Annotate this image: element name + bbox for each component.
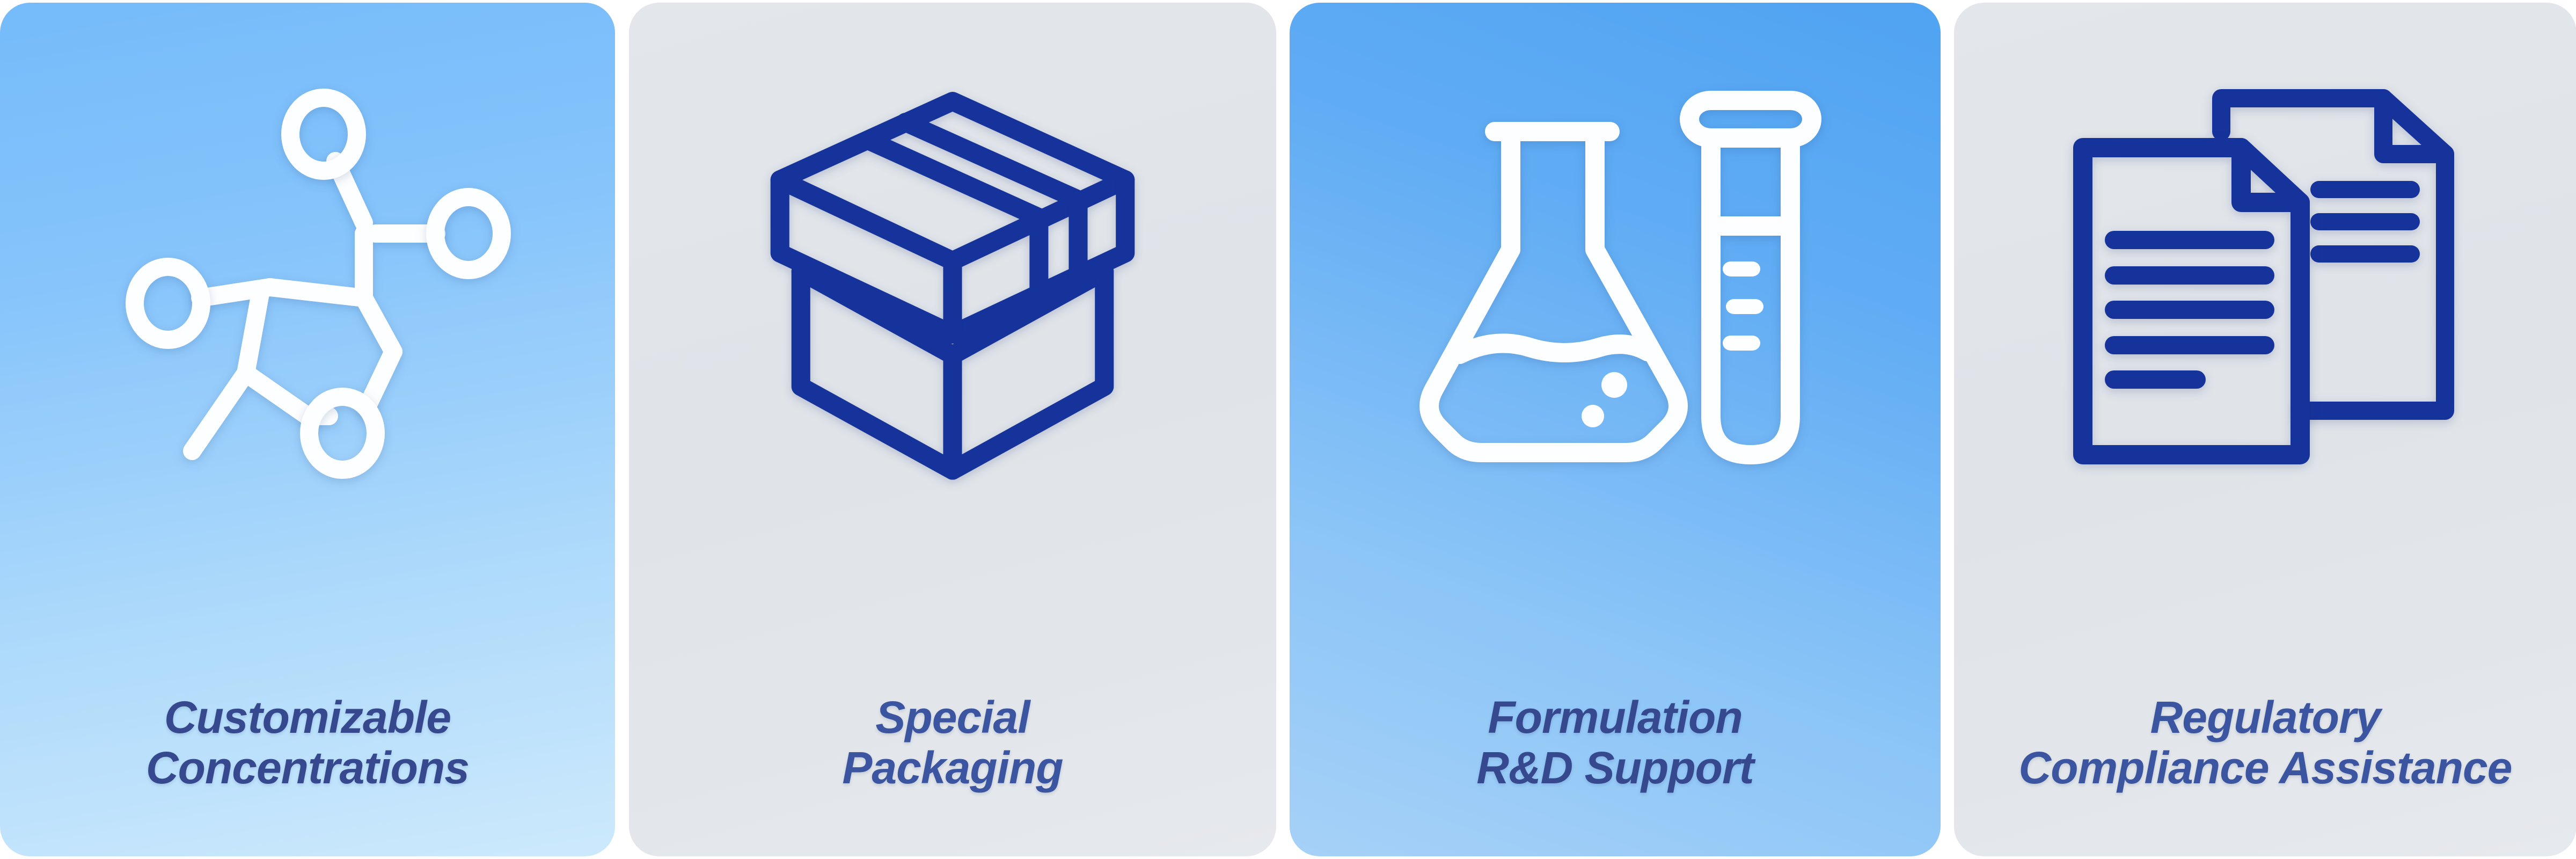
documents-icon xyxy=(2051,72,2480,491)
feature-card-special-packaging[interactable]: Special Packaging xyxy=(629,3,1276,856)
molecule-icon xyxy=(93,72,522,491)
feature-card-formulation-rd-support[interactable]: Formulation R&D Support xyxy=(1290,3,1941,856)
card-title: Customizable Concentrations xyxy=(0,692,615,793)
package-box-icon xyxy=(738,72,1167,491)
flask-test-tube-icon xyxy=(1401,72,1830,491)
feature-card-strip: Customizable Concentrations xyxy=(0,0,2576,859)
card-title: Special Packaging xyxy=(629,692,1276,793)
card-title: Formulation R&D Support xyxy=(1290,692,1941,793)
card-title: Regulatory Compliance Assistance xyxy=(1954,692,2576,793)
feature-card-customizable-concentrations[interactable]: Customizable Concentrations xyxy=(0,3,615,856)
feature-card-regulatory-compliance-assistance[interactable]: Regulatory Compliance Assistance xyxy=(1954,3,2576,856)
